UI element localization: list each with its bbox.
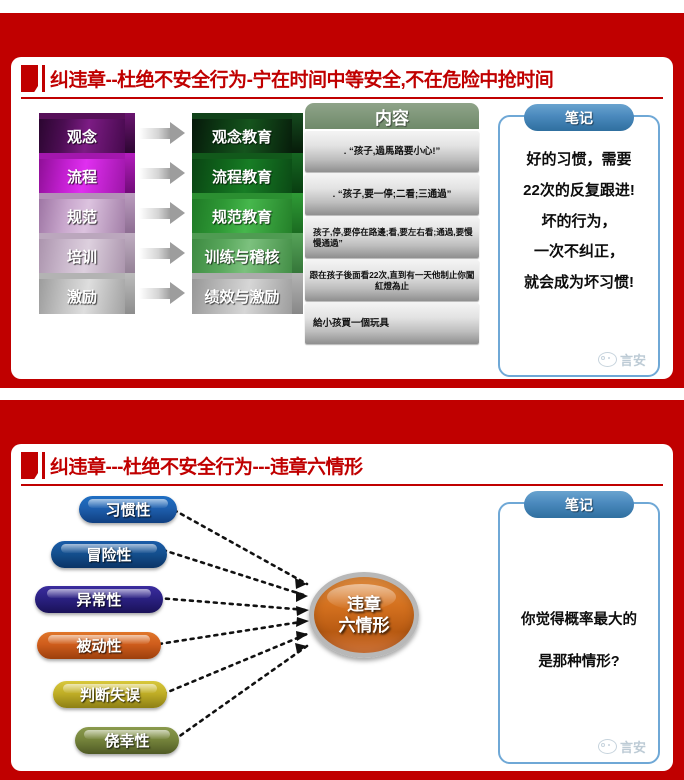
watermark: 言安 <box>598 737 646 756</box>
stack-block: 规范教育 <box>192 193 292 234</box>
watermark-text: 言安 <box>620 350 646 369</box>
notes-line: 一次不纠正， <box>508 237 650 268</box>
notes-panel-header: 笔记 <box>524 491 634 518</box>
pill-label: 被动性 <box>76 635 121 656</box>
page-title: 纠违章--杜绝不安全行为-宁在时间中等安全,不在危险中抢时间 <box>50 65 553 92</box>
title-divider <box>42 65 45 92</box>
slide-1-title-row: 纠违章--杜绝不安全行为-宁在时间中等安全,不在危险中抢时间 <box>21 62 663 95</box>
arrow-right-icon <box>139 153 189 194</box>
pill-item[interactable]: 侥幸性 <box>75 727 179 754</box>
content-box: . “孩子,要一停;二看;三通過” <box>305 174 479 215</box>
slide-2-title-row: 纠违章---杜绝不安全行为---违章六情形 <box>21 449 663 482</box>
stack-block: 训练与稽核 <box>192 233 292 274</box>
watermark-text: 言安 <box>620 737 646 756</box>
content-box: 給小孩買一個玩具 <box>305 303 479 344</box>
stack-label: 规范 <box>39 199 125 234</box>
concept-stack-left: 观念 流程 规范 培训 激励 <box>39 113 125 313</box>
stack-label: 激励 <box>39 279 125 314</box>
stack-block: 观念教育 <box>192 113 292 154</box>
arrow-right-icon <box>139 233 189 274</box>
notes-panel-header: 笔记 <box>524 104 634 131</box>
stack-block: 规范 <box>39 193 125 234</box>
notes-panel: 笔记 你觉得概率最大的 是那种情形? 言安 <box>498 502 660 764</box>
notes-line: 22次的反复跟进! <box>508 176 650 207</box>
stack-block: 培训 <box>39 233 125 274</box>
arrow-right-icon <box>139 113 189 154</box>
stack-block: 绩效与激励 <box>192 273 292 314</box>
slide-2: 纠违章---杜绝不安全行为---违章六情形 <box>0 400 684 780</box>
stack-label: 观念教育 <box>192 119 292 154</box>
stack-label: 规范教育 <box>192 199 292 234</box>
pill-label: 判断失误 <box>80 684 140 705</box>
watermark: 言安 <box>598 350 646 369</box>
pill-item[interactable]: 判断失误 <box>53 681 167 708</box>
slide-1-body: 纠违章--杜绝不安全行为-宁在时间中等安全,不在危险中抢时间 观念 流程 规范 … <box>11 57 673 379</box>
notes-line: 你觉得概率最大的 <box>508 599 650 641</box>
content-column-header: 内容 <box>305 103 479 129</box>
page-flag-icon <box>21 452 38 479</box>
screenshot-root: 纠违章--杜绝不安全行为-宁在时间中等安全,不在危险中抢时间 观念 流程 规范 … <box>0 0 684 780</box>
stack-label: 流程 <box>39 159 125 194</box>
pill-label: 侥幸性 <box>104 730 149 751</box>
arrow-column <box>139 113 189 313</box>
arrow-right-icon <box>139 193 189 234</box>
notes-panel-body: 好的习惯，需要 22次的反复跟进! 坏的行为， 一次不纠正， 就会成为坏习惯! <box>508 145 650 299</box>
title-underline <box>21 484 663 486</box>
education-stack-right: 观念教育 流程教育 规范教育 训练与稽核 绩效与激励 <box>192 113 292 313</box>
content-box: 孩子,停,要停在路邊;看,要左右看;通過,要慢慢通過” <box>305 217 479 258</box>
stack-label: 观念 <box>39 119 125 154</box>
notes-line: 好的习惯，需要 <box>508 145 650 176</box>
stack-block: 流程 <box>39 153 125 194</box>
stack-block: 观念 <box>39 113 125 154</box>
stack-label: 流程教育 <box>192 159 292 194</box>
pill-item[interactable]: 习惯性 <box>79 496 177 523</box>
stack-block: 激励 <box>39 273 125 314</box>
center-node[interactable]: 违章 六情形 <box>309 572 419 658</box>
content-box: . “孩子,過馬路要小心!” <box>305 131 479 172</box>
slide-2-body: 纠违章---杜绝不安全行为---违章六情形 <box>11 444 673 771</box>
notes-line: 坏的行为， <box>508 207 650 238</box>
content-box: 跟在孩子後面看22次,直到有一天他制止你闖紅燈為止 <box>305 260 479 301</box>
stack-block: 流程教育 <box>192 153 292 194</box>
page-flag-icon <box>21 65 38 92</box>
center-node-line2: 六情形 <box>339 615 390 636</box>
notes-panel: 笔记 好的习惯，需要 22次的反复跟进! 坏的行为， 一次不纠正， 就会成为坏习… <box>498 115 660 377</box>
arrow-right-icon <box>139 273 189 314</box>
notes-line: 是那种情形? <box>508 641 650 683</box>
stack-label: 培训 <box>39 239 125 274</box>
page-title: 纠违章---杜绝不安全行为---违章六情形 <box>50 452 362 479</box>
pill-item[interactable]: 被动性 <box>37 632 161 659</box>
pill-item[interactable]: 冒险性 <box>51 541 167 568</box>
stack-label: 训练与稽核 <box>192 239 292 274</box>
wechat-bubble-icon <box>598 352 617 367</box>
pill-label: 冒险性 <box>86 544 131 565</box>
center-node-line1: 违章 <box>347 594 381 615</box>
slide-1: 纠违章--杜绝不安全行为-宁在时间中等安全,不在危险中抢时间 观念 流程 规范 … <box>0 13 684 388</box>
pill-label: 习惯性 <box>105 499 150 520</box>
stack-label: 绩效与激励 <box>192 279 292 314</box>
title-underline <box>21 97 663 99</box>
notes-panel-body: 你觉得概率最大的 是那种情形? <box>508 599 650 683</box>
notes-line: 就会成为坏习惯! <box>508 268 650 299</box>
title-divider <box>42 452 45 479</box>
wechat-bubble-icon <box>598 739 617 754</box>
pill-label: 异常性 <box>76 589 121 610</box>
content-column: 内容 . “孩子,過馬路要小心!” . “孩子,要一停;二看;三通過” 孩子,停… <box>305 103 479 344</box>
pill-item[interactable]: 异常性 <box>35 586 163 613</box>
